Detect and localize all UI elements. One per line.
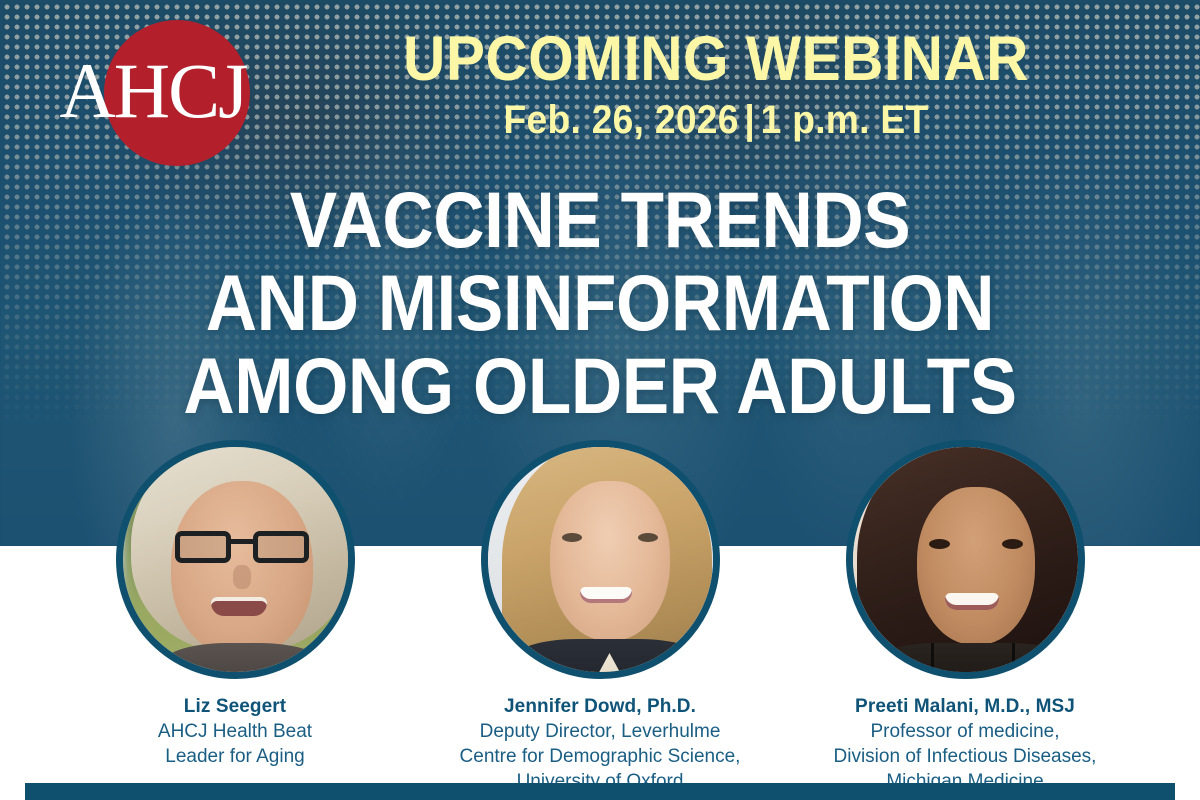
speaker-card: Preeti Malani, M.D., MSJ Professor of me… [783, 440, 1148, 794]
mouth-shape [211, 597, 267, 616]
mouth-shape [580, 587, 632, 603]
eyeglasses-icon [175, 531, 309, 565]
webinar-time: 1 p.m. ET [761, 98, 929, 142]
speaker-caption: Preeti Malani, M.D., MSJ Professor of me… [800, 695, 1130, 794]
speaker-card: Jennifer Dowd, Ph.D. Deputy Director, Le… [418, 440, 783, 794]
webinar-kicker-block: UPCOMING WEBINAR Feb. 26, 2026|1 p.m. ET [266, 26, 1166, 142]
ahcj-logo[interactable]: AHCJ [48, 18, 258, 168]
title-line-2: AND MISINFORMATION [60, 261, 1140, 344]
webinar-datetime: Feb. 26, 2026|1 p.m. ET [298, 98, 1135, 142]
title-line-3: AMONG OLDER ADULTS [60, 344, 1140, 427]
speaker-role-line: Centre for Demographic Science, [435, 744, 765, 769]
speaker-card: Liz Seegert AHCJ Health Beat Leader for … [53, 440, 418, 794]
speaker-role-line: Deputy Director, Leverhulme [435, 719, 765, 744]
speaker-caption: Jennifer Dowd, Ph.D. Deputy Director, Le… [435, 695, 765, 794]
face-shape [917, 487, 1035, 645]
eyes-shape [929, 539, 1023, 550]
speaker-photo-preeti-malani [846, 440, 1085, 679]
eyes-shape [562, 533, 658, 543]
speaker-name: Preeti Malani, M.D., MSJ [800, 695, 1130, 719]
speaker-photo-liz-seegert [116, 440, 355, 679]
torso-shape [159, 643, 327, 672]
necklace-shape [931, 643, 1015, 672]
webinar-title: VACCINE TRENDS AND MISINFORMATION AMONG … [0, 178, 1200, 427]
title-line-1: VACCINE TRENDS [60, 178, 1140, 261]
upcoming-webinar-label: UPCOMING WEBINAR [298, 26, 1135, 92]
webinar-date: Feb. 26, 2026 [504, 98, 739, 142]
speaker-photo-jennifer-dowd [481, 440, 720, 679]
webinar-promo-poster: AHCJ UPCOMING WEBINAR Feb. 26, 2026|1 p.… [0, 0, 1200, 800]
logo-wordmark: AHCJ [48, 50, 258, 132]
speaker-name: Liz Seegert [70, 695, 400, 719]
mouth-shape [945, 593, 999, 610]
speaker-role-line: AHCJ Health Beat [70, 719, 400, 744]
face-shape [550, 481, 670, 641]
speaker-caption: Liz Seegert AHCJ Health Beat Leader for … [70, 695, 400, 769]
footer-accent-bar [25, 783, 1175, 800]
speaker-name: Jennifer Dowd, Ph.D. [435, 695, 765, 719]
nose-shape [233, 565, 251, 589]
speaker-role-line: Division of Infectious Diseases, [800, 744, 1130, 769]
speaker-role-line: Leader for Aging [70, 744, 400, 769]
datetime-separator: | [739, 98, 761, 142]
speaker-role-line: Professor of medicine, [800, 719, 1130, 744]
speaker-list: Liz Seegert AHCJ Health Beat Leader for … [0, 440, 1200, 794]
